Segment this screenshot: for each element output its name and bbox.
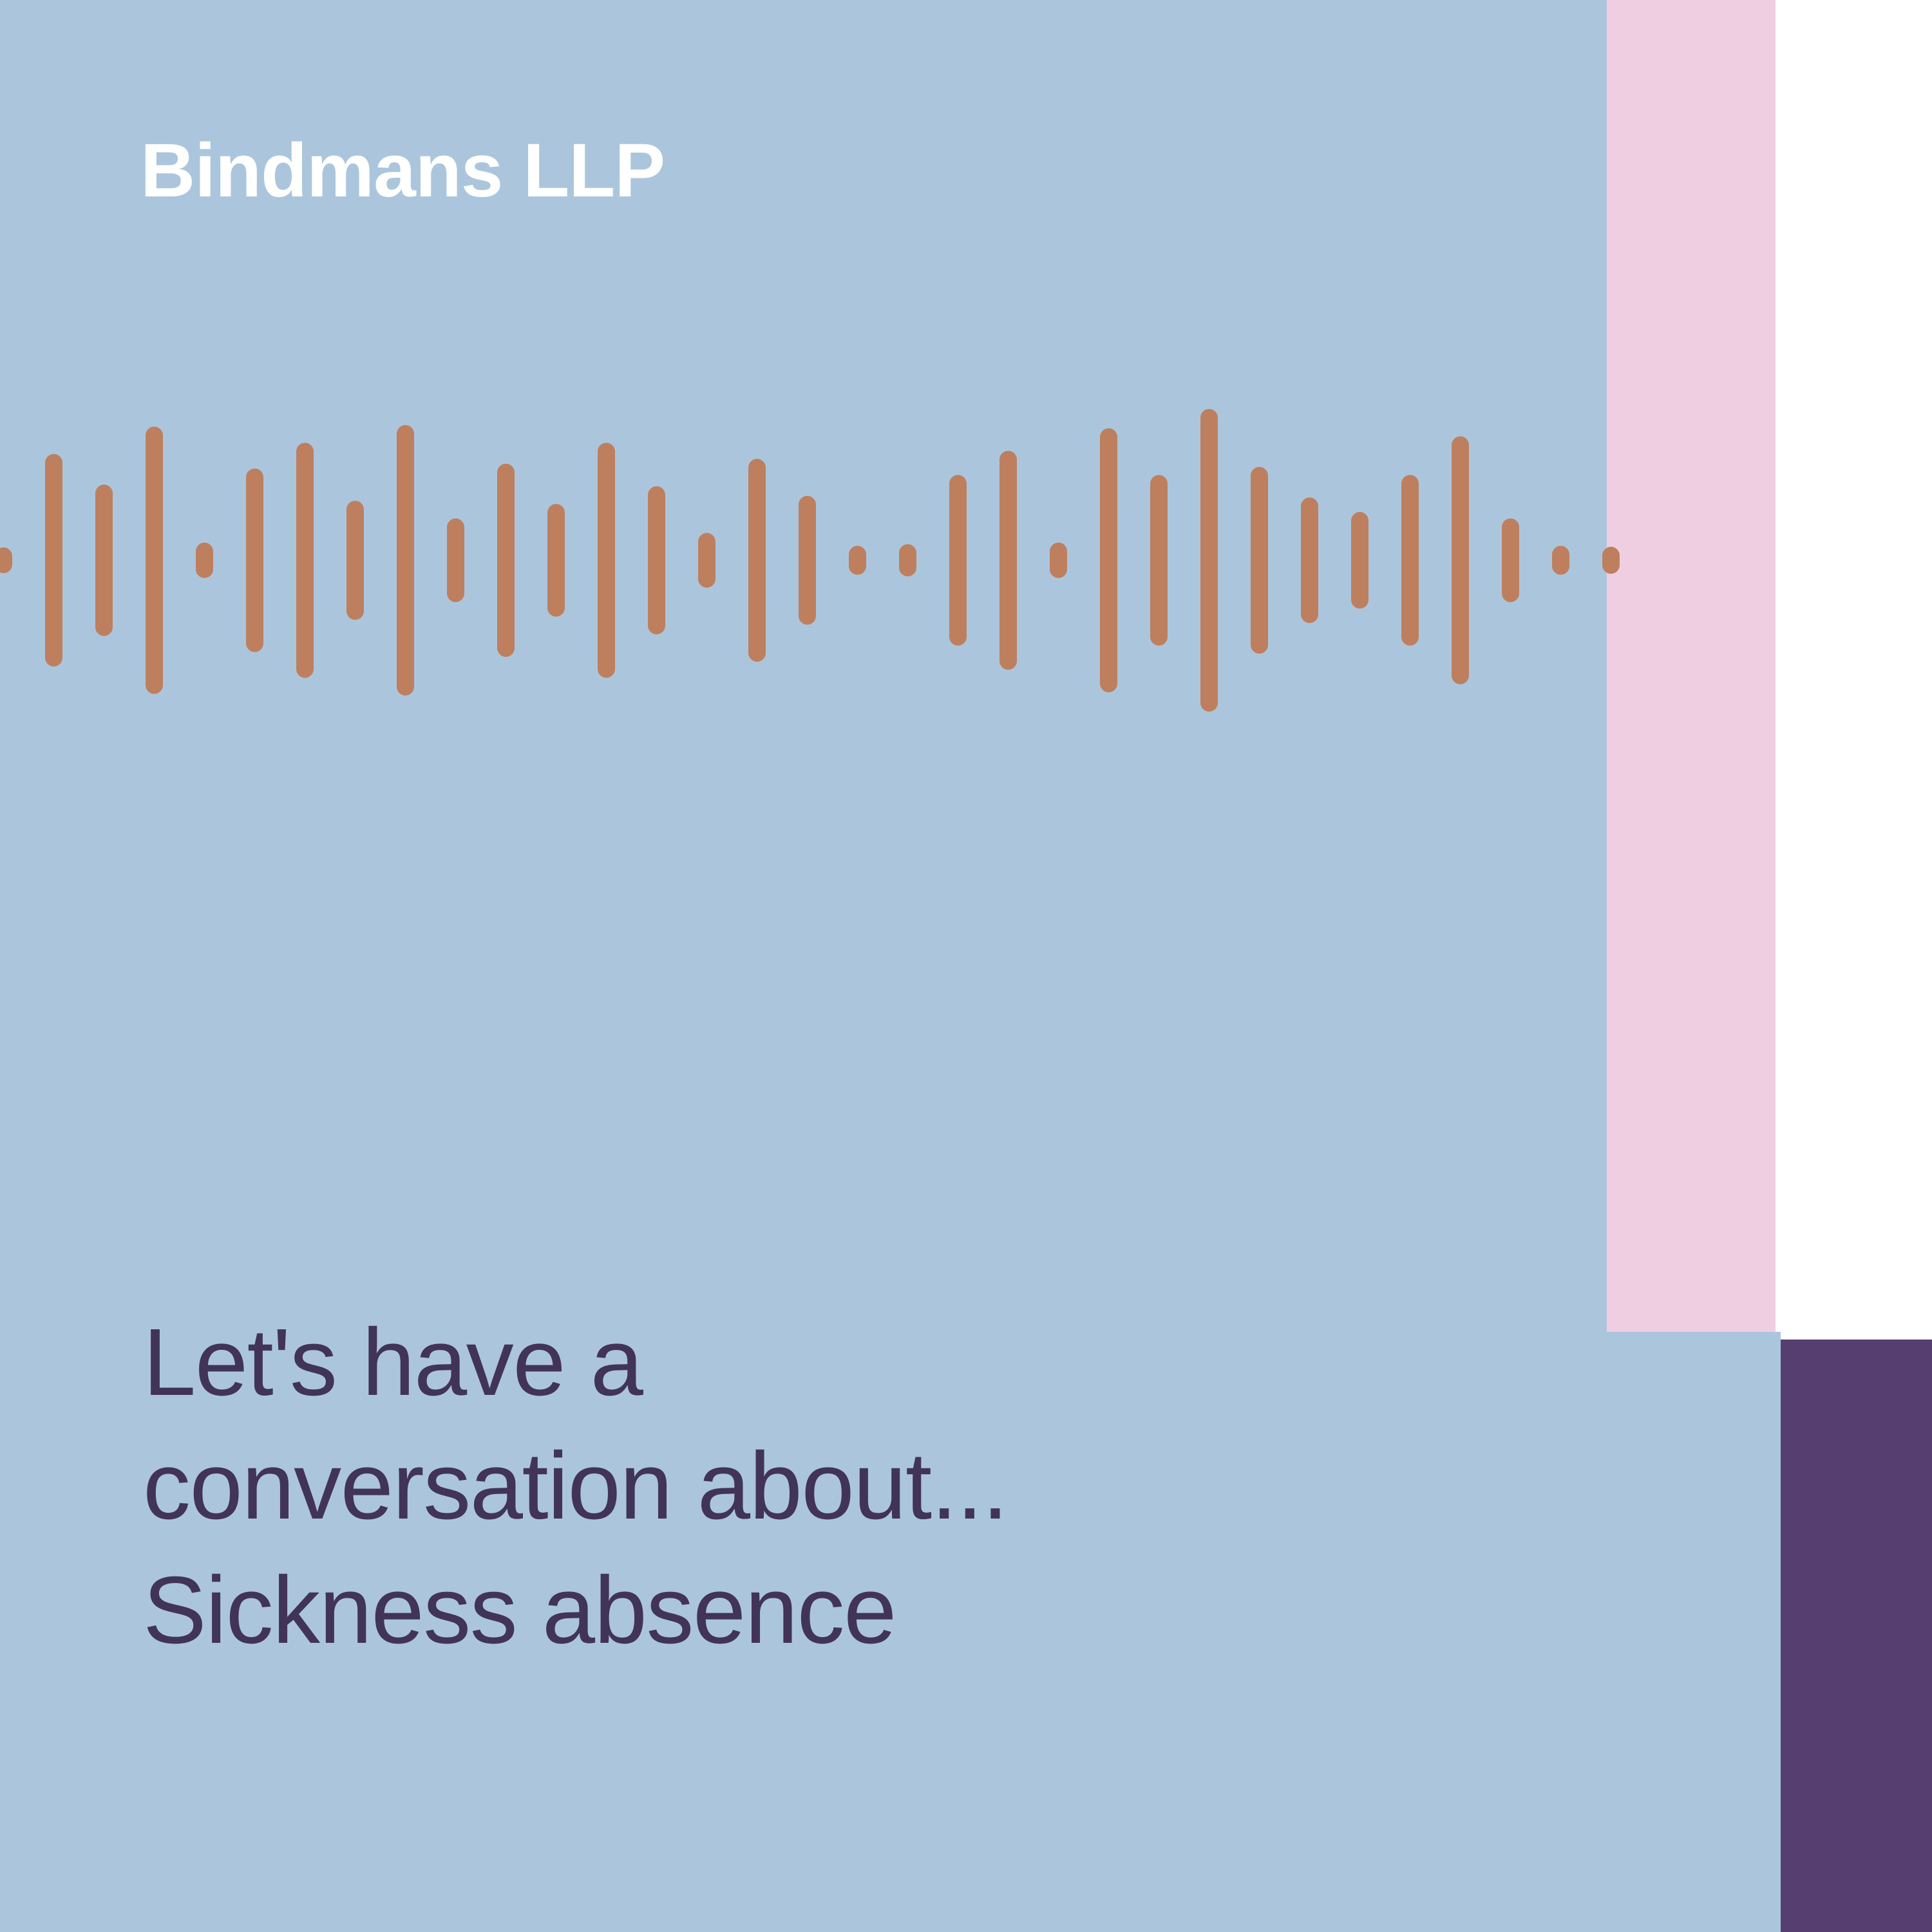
headline-line-1: Let's have a bbox=[143, 1301, 1592, 1425]
waveform-bar bbox=[95, 485, 113, 636]
waveform-bar bbox=[598, 443, 615, 678]
waveform-bar bbox=[397, 425, 414, 696]
waveform-bar bbox=[547, 504, 565, 617]
waveform-bar bbox=[899, 544, 916, 576]
waveform-bar bbox=[146, 427, 163, 694]
waveform-bar bbox=[748, 459, 766, 662]
waveform-bar bbox=[1100, 428, 1117, 692]
waveform-bar bbox=[1552, 546, 1569, 575]
waveform-bar bbox=[447, 518, 464, 602]
waveform-bar bbox=[0, 547, 12, 573]
audio-waveform-graphic bbox=[0, 367, 1610, 753]
waveform-bar bbox=[1401, 475, 1419, 646]
waveform-bar bbox=[1502, 518, 1519, 602]
waveform-bar bbox=[1200, 409, 1218, 712]
waveform-bar bbox=[196, 543, 213, 578]
waveform-bar bbox=[1602, 547, 1620, 574]
waveform-bar bbox=[999, 451, 1017, 670]
decorative-panel-pink bbox=[1607, 0, 1776, 1332]
waveform-bar bbox=[849, 546, 866, 575]
waveform-bar bbox=[799, 496, 816, 625]
waveform-bar bbox=[648, 486, 665, 634]
poster-canvas: Bindmans LLP Let's have a conversation a… bbox=[0, 0, 1932, 1932]
waveform-bar bbox=[246, 469, 263, 652]
decorative-panel-purple bbox=[1781, 1340, 1932, 1932]
waveform-bar bbox=[1251, 467, 1268, 654]
waveform-bar bbox=[497, 464, 515, 657]
waveform-bar bbox=[698, 533, 715, 588]
waveform-bar bbox=[346, 501, 364, 620]
waveform-bar bbox=[45, 454, 62, 667]
waveform-bar bbox=[1351, 512, 1368, 609]
waveform-bar bbox=[949, 475, 967, 646]
waveform-bar bbox=[1150, 475, 1168, 646]
decorative-panel-blue-lower bbox=[1607, 1332, 1781, 1932]
waveform-bar bbox=[296, 443, 314, 678]
headline-block: Let's have a conversation about... Sickn… bbox=[143, 1301, 1592, 1672]
waveform-bar bbox=[1301, 498, 1318, 623]
brand-title: Bindmans LLP bbox=[140, 128, 665, 215]
decorative-panel-white bbox=[1776, 0, 1932, 1340]
waveform-bar bbox=[1452, 437, 1469, 685]
headline-line-2: conversation about... bbox=[143, 1425, 1592, 1548]
headline-line-3: Sickness absence bbox=[143, 1549, 1592, 1672]
waveform-bar bbox=[1050, 543, 1067, 578]
